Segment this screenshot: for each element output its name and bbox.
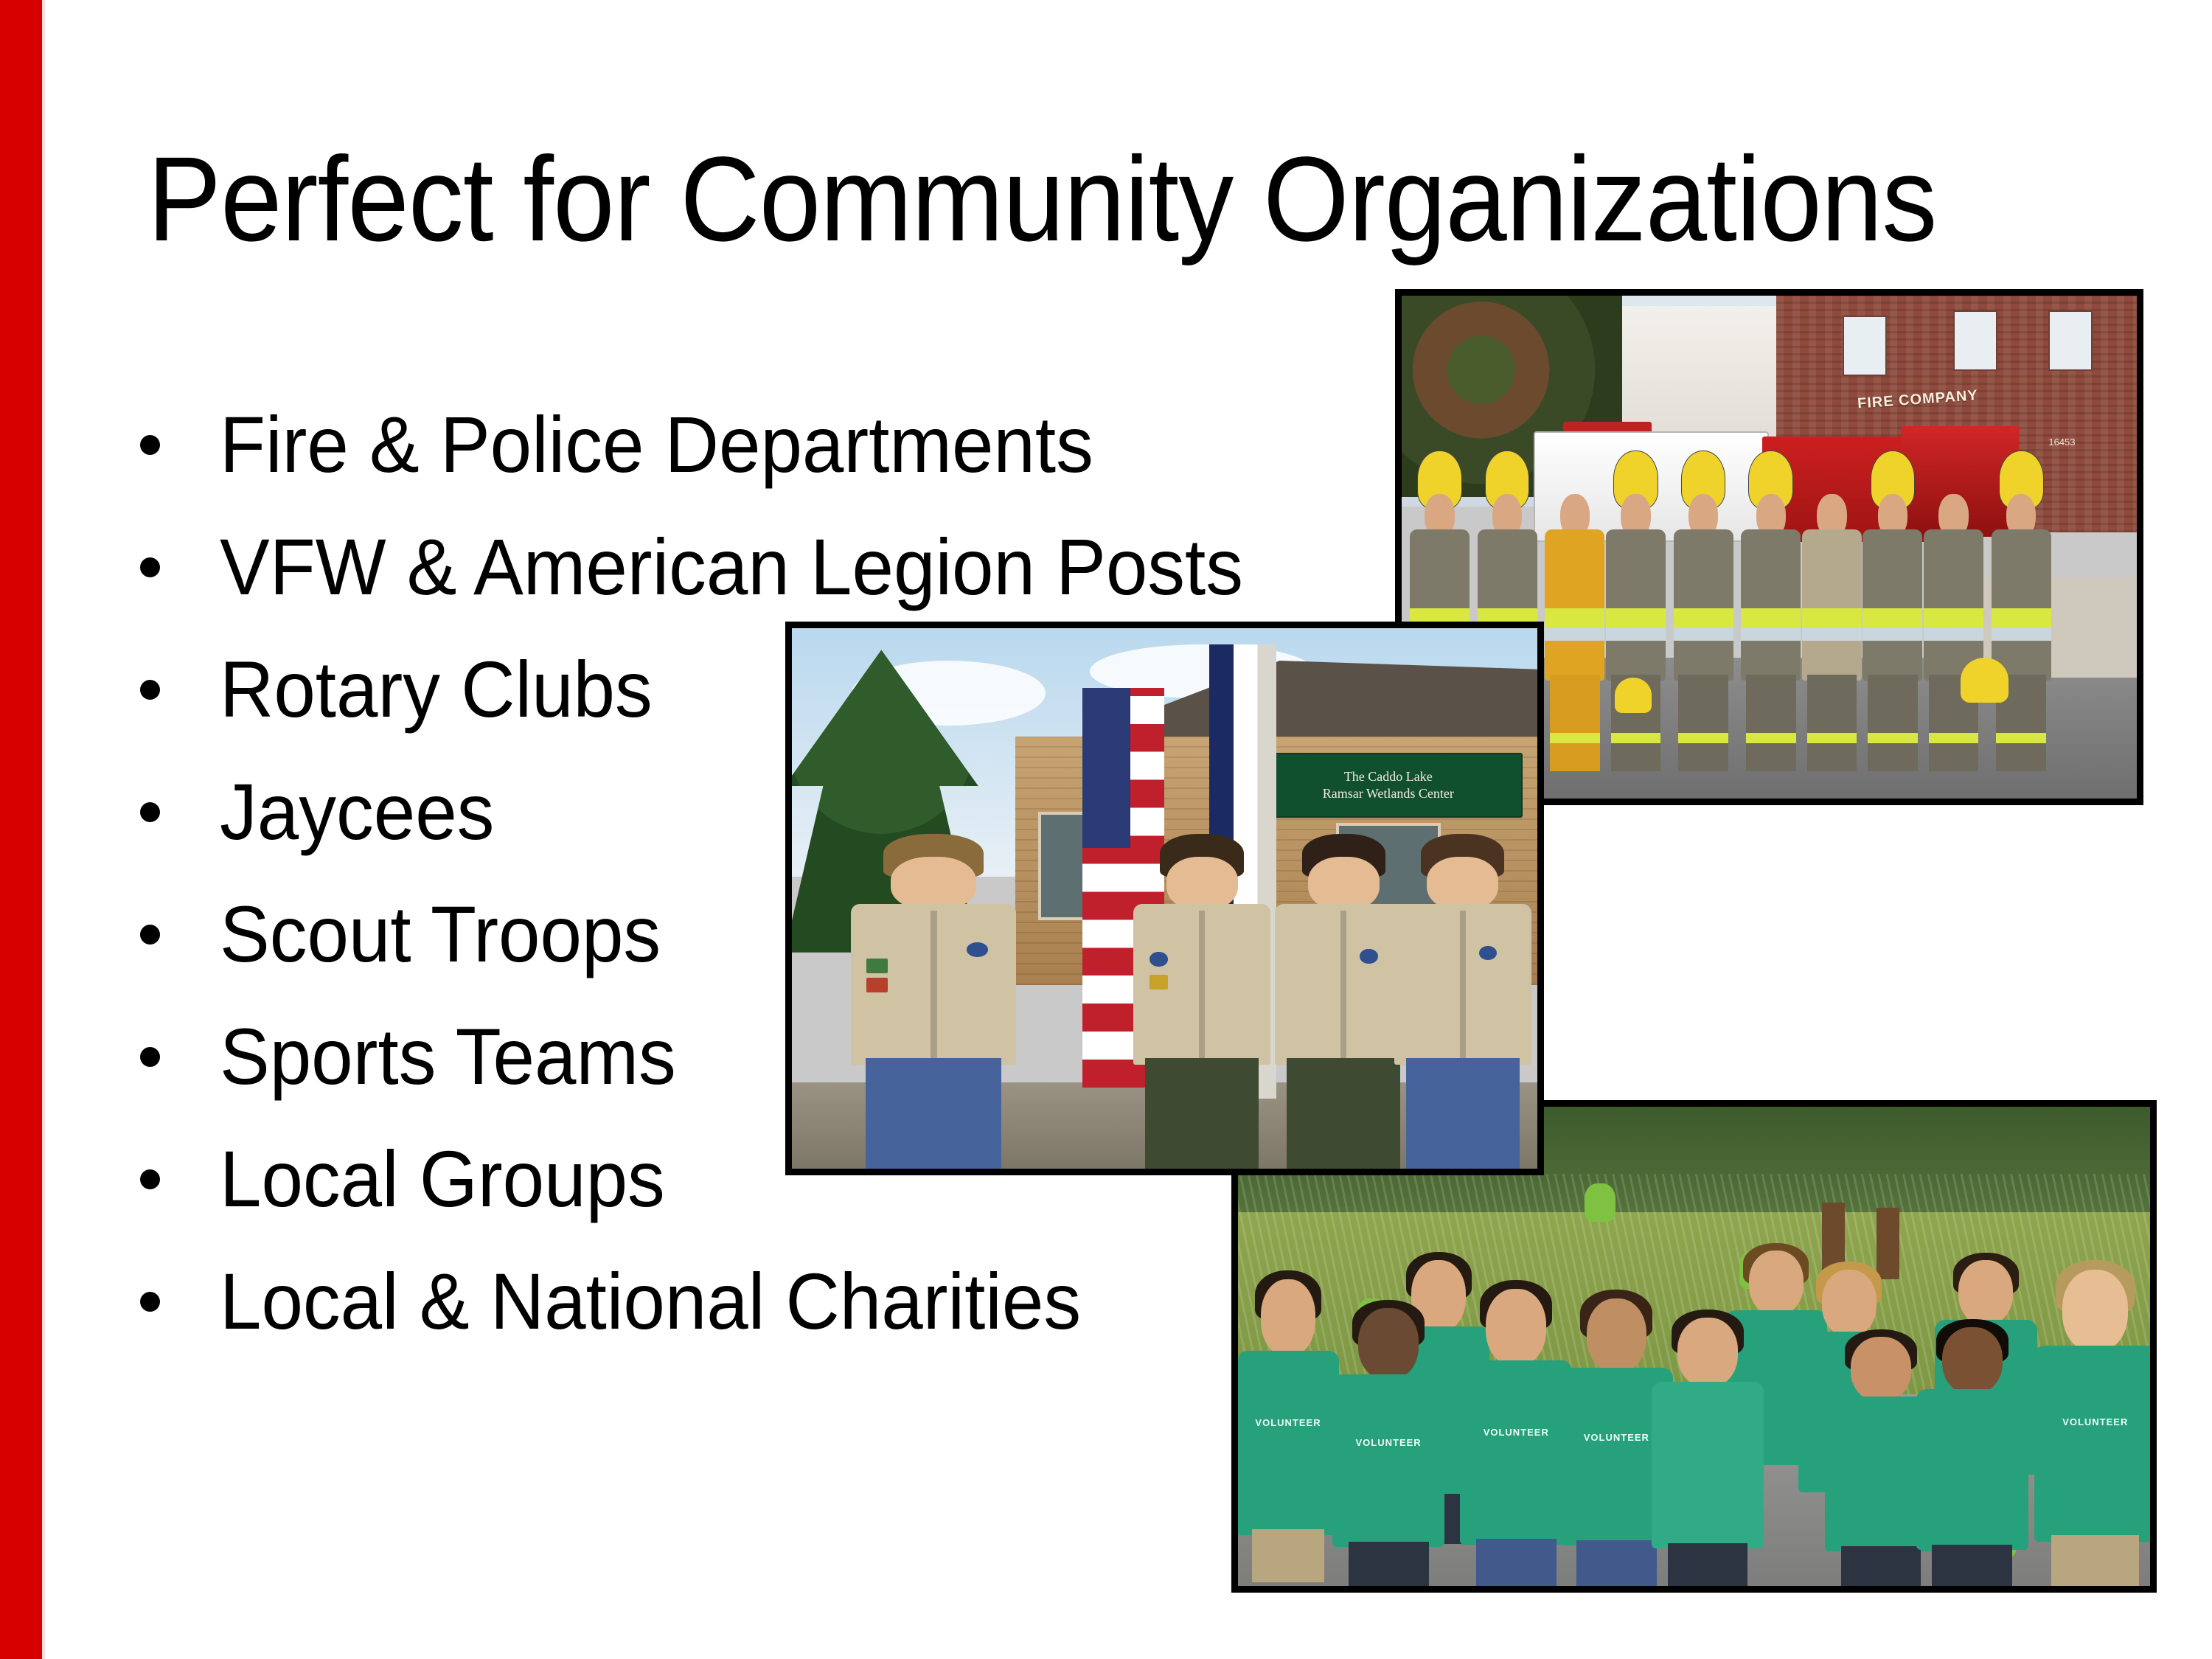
turnout-pants [1746,675,1796,771]
volunteer-tshirt: VOLUNTEER [1460,1360,1572,1545]
building-window [1953,310,1997,371]
boy-scouts-color-guard-photo: The Caddo Lake Ramsar Wetlands Center [785,622,1544,1175]
turnout-pants [1807,675,1857,771]
council-patch [967,942,988,957]
council-patch [1150,952,1167,967]
bullet-dot-icon [140,1292,160,1312]
trousers [1287,1058,1400,1172]
sign-line-2: Ramsar Wetlands Center [1323,785,1454,802]
legs [1932,1545,2012,1591]
firefighter [1990,477,2052,769]
bullet-dot-icon [140,802,160,822]
legs [1668,1543,1748,1592]
merit-patch [866,959,888,973]
held-helmet-icon [1961,658,2008,703]
turnout-coat [1924,529,1983,681]
turnout-coat [1674,529,1733,681]
volunteer-tshirt: VOLUNTEER [1332,1374,1444,1547]
legs [1841,1546,1921,1591]
bullet-label: VFW & American Legion Posts [220,527,1243,607]
left-accent-bar [0,0,42,1659]
volunteer-tshirt [1652,1382,1764,1548]
bullet-label: Sports Teams [220,1017,676,1096]
bullet-dot-icon [140,680,160,700]
face [891,857,976,911]
address-number: 16453 [2048,437,2075,448]
scout-uniform-shirt [1394,904,1531,1065]
firefighter [1922,477,1984,769]
held-helmet-icon [1615,678,1652,713]
scout-uniform-shirt [1133,904,1270,1065]
volunteer [1922,1327,2023,1586]
legs [1349,1542,1429,1592]
bullet-dot-icon [140,925,160,945]
face [1822,1270,1877,1337]
face [1677,1318,1738,1388]
turnout-coat [1741,529,1801,681]
volunteer: VOLUNTEER [1338,1308,1439,1586]
scout [1388,834,1537,1169]
firefighter [1862,477,1924,769]
firefighter [1544,477,1606,769]
wetlands-center-sign: The Caddo Lake Ramsar Wetlands Center [1254,753,1523,818]
flag-canton [1082,688,1130,848]
face [1261,1279,1315,1357]
face [1358,1308,1419,1380]
face [1308,857,1380,911]
bullet-label: Fire & Police Departments [220,405,1093,484]
face [1587,1298,1647,1373]
list-item: VFW & American Legion Posts [133,506,1430,628]
bullet-dot-icon [140,1169,160,1189]
volunteer-tshirt: VOLUNTEER [1237,1351,1340,1535]
turnout-coat [1992,529,2051,681]
face [1427,857,1498,911]
face [1166,857,1238,911]
shirt-wordmark: VOLUNTEER [2039,1416,2152,1427]
turnout-coat [1606,529,1666,681]
list-item: Fire & Police Departments [133,383,1430,506]
firefighter [1740,477,1802,769]
scout [844,834,1023,1169]
council-patch [1479,946,1497,961]
council-patch [1360,949,1377,964]
bullet-dot-icon [140,557,160,577]
turnout-pants [1678,675,1728,771]
bullet-label: Jaycees [220,772,494,852]
face [1958,1260,2013,1325]
bullet-label: Scout Troops [220,894,661,974]
firefighter [1604,477,1666,769]
shirt-wordmark: VOLUNTEER [1241,1417,1335,1428]
slide-title: Perfect for Community Organizations [147,139,2020,259]
building-window [2048,310,2093,371]
face [1942,1327,2003,1394]
trousers [1145,1058,1259,1172]
merit-patch [1150,975,1167,990]
legs [1576,1540,1657,1592]
sign-line-1: The Caddo Lake [1344,768,1433,785]
merit-patch [866,978,888,992]
slide-canvas: Perfect for Community Organizations Fire… [0,0,2212,1659]
turnout-pants [1868,675,1918,771]
trousers [1406,1058,1520,1172]
legs [1476,1539,1557,1593]
firefighter [1801,477,1863,769]
volunteer: VOLUNTEER [1466,1289,1566,1586]
volunteer: VOLUNTEER [2041,1270,2150,1586]
face [1851,1337,1911,1402]
face [1749,1251,1804,1315]
turnout-coat [1863,529,1922,681]
legs [2051,1535,2139,1592]
scout-uniform-shirt [851,904,1015,1065]
volunteer [1658,1318,1758,1586]
legs [1252,1529,1325,1583]
turnout-coat [1545,529,1604,681]
trousers [866,1058,1001,1172]
left-accent-bar-highlight [42,0,45,1659]
scout [1127,834,1276,1169]
bullet-label: Local & National Charities [220,1262,1081,1341]
bullet-dot-icon [140,1047,160,1067]
shirt-wordmark: VOLUNTEER [1337,1437,1440,1448]
fence-post [1877,1208,1899,1280]
building-window [1843,316,1887,376]
volunteer-tshirt [1916,1389,2028,1550]
green-glove [1585,1183,1615,1222]
turnout-pants [1550,675,1600,771]
bullet-label: Rotary Clubs [220,650,653,729]
face [2062,1270,2128,1352]
firefighter [1672,477,1734,769]
shirt-wordmark: VOLUNTEER [1464,1427,1568,1438]
bullet-label: Local Groups [220,1139,665,1219]
volunteer-tshirt: VOLUNTEER [2034,1346,2157,1542]
turnout-coat [1802,529,1862,681]
volunteer: VOLUNTEER [1242,1279,1334,1576]
bullet-dot-icon [140,435,160,455]
face [1486,1289,1546,1366]
